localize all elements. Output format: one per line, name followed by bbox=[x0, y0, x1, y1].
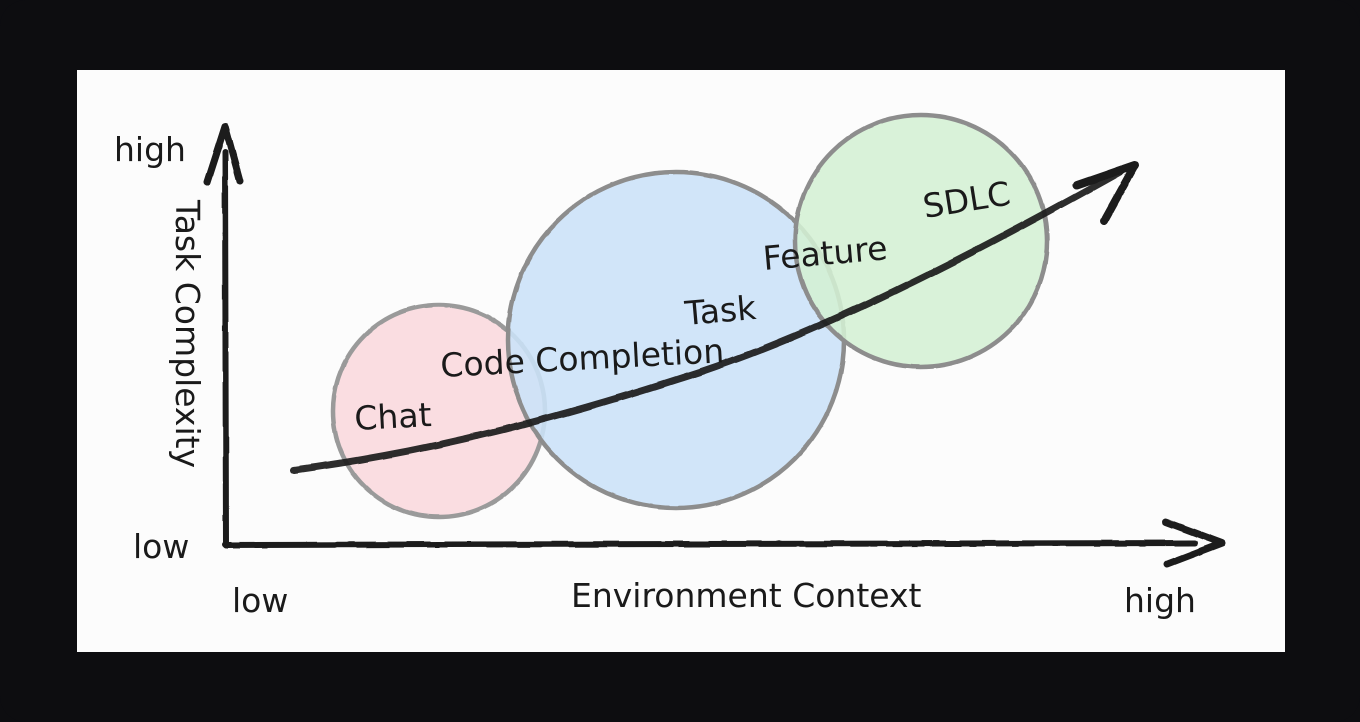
screenshot-frame: high low Task Complexity low high Enviro… bbox=[0, 0, 1360, 722]
bubble-diagram: high low Task Complexity low high Enviro… bbox=[0, 0, 1360, 722]
bubble-label-task: Task bbox=[682, 288, 758, 333]
x-axis bbox=[225, 522, 1222, 564]
x-axis-high-label: high bbox=[1124, 581, 1196, 620]
x-axis-title: Environment Context bbox=[571, 576, 922, 615]
y-axis-high-label: high bbox=[114, 130, 186, 169]
y-axis bbox=[207, 126, 240, 546]
x-axis-low-label: low bbox=[232, 581, 288, 620]
y-axis-title: Task Complexity bbox=[168, 199, 207, 468]
bubble-label-chat: Chat bbox=[353, 395, 432, 438]
y-axis-low-label: low bbox=[133, 527, 189, 566]
